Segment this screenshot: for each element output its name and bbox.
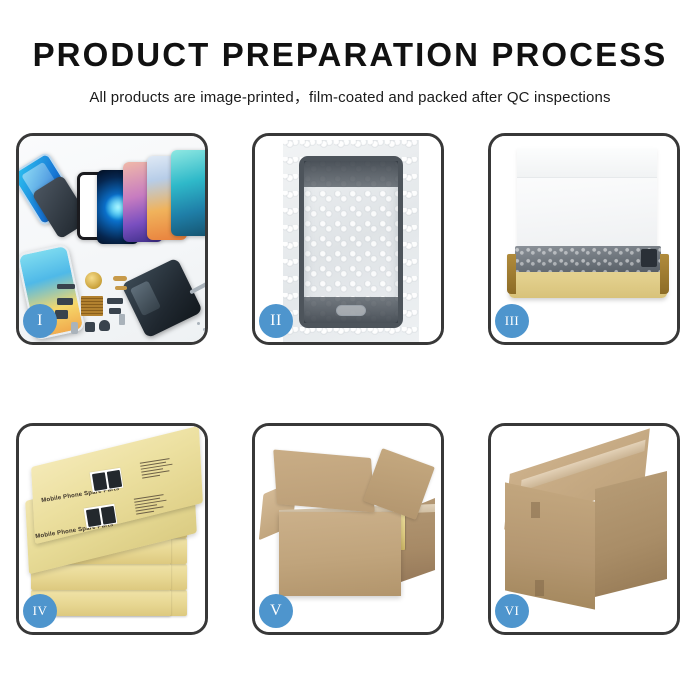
part-connector-1 (57, 298, 73, 305)
part-flex-tan-1 (113, 276, 127, 281)
page-title: PRODUCT PREPARATION PROCESS (0, 38, 700, 71)
phone-teal-screen (171, 150, 208, 236)
home-button (336, 305, 366, 316)
box-tab-left (507, 254, 516, 294)
part-tweezers (189, 282, 208, 295)
part-button (85, 322, 95, 332)
step-panel-3: III Screen placed in foam-lined kraft bo… (488, 133, 680, 345)
step-panel-5: V Boxes loaded into shipping carton (252, 423, 444, 635)
steps-grid: I Mobile phone LCD screens and spare par… (16, 133, 684, 635)
part-flex-tan-2 (115, 286, 127, 290)
phone-rear-housing (121, 257, 203, 338)
header: PRODUCT PREPARATION PROCESS All products… (0, 0, 700, 107)
step-panel-1: I Mobile phone LCD screens and spare par… (16, 133, 208, 345)
carton-front-panel (279, 512, 401, 596)
wrapped-phone-screen (299, 156, 403, 328)
screen-inside-box (515, 246, 661, 272)
foam-lid (517, 148, 657, 178)
part-vibrator (99, 320, 110, 331)
part-screw-2 (203, 328, 206, 331)
sealed-carton-front (505, 482, 595, 609)
part-sim-tray (119, 314, 125, 325)
carton-flap-back (273, 449, 375, 512)
part-chip-array (81, 296, 103, 316)
part-connector-2 (55, 310, 68, 319)
part-speaker-gold (85, 272, 102, 289)
step-badge-4: IV (23, 594, 57, 628)
step-panel-2: II Screen wrapped in bubble film (252, 133, 444, 345)
box-tab-right (660, 254, 669, 294)
part-screw-1 (197, 322, 200, 325)
product-preparation-infographic: PRODUCT PREPARATION PROCESS All products… (0, 0, 700, 700)
page-subtitle: All products are image-printed，film-coat… (0, 86, 700, 107)
carton-seam-lower (535, 580, 544, 596)
part-strip (57, 284, 75, 289)
kraft-box-open (509, 254, 667, 298)
step-badge-5: V (259, 594, 293, 628)
part-flex-cable-1 (107, 298, 123, 304)
step-badge-6: VI (495, 594, 529, 628)
step-panel-4: Mobile Phone Spare Parts Mobile Phone Sp… (16, 423, 208, 635)
step-badge-1: I (23, 304, 57, 338)
sealed-carton-right (595, 471, 667, 597)
part-camera (71, 322, 78, 334)
step-panel-6: VI Carton sealed and ready to ship (488, 423, 680, 635)
screen-top-bezel (304, 161, 398, 187)
carton-seam-upper (531, 502, 540, 518)
step-badge-3: III (495, 304, 529, 338)
step-badge-2: II (259, 304, 293, 338)
